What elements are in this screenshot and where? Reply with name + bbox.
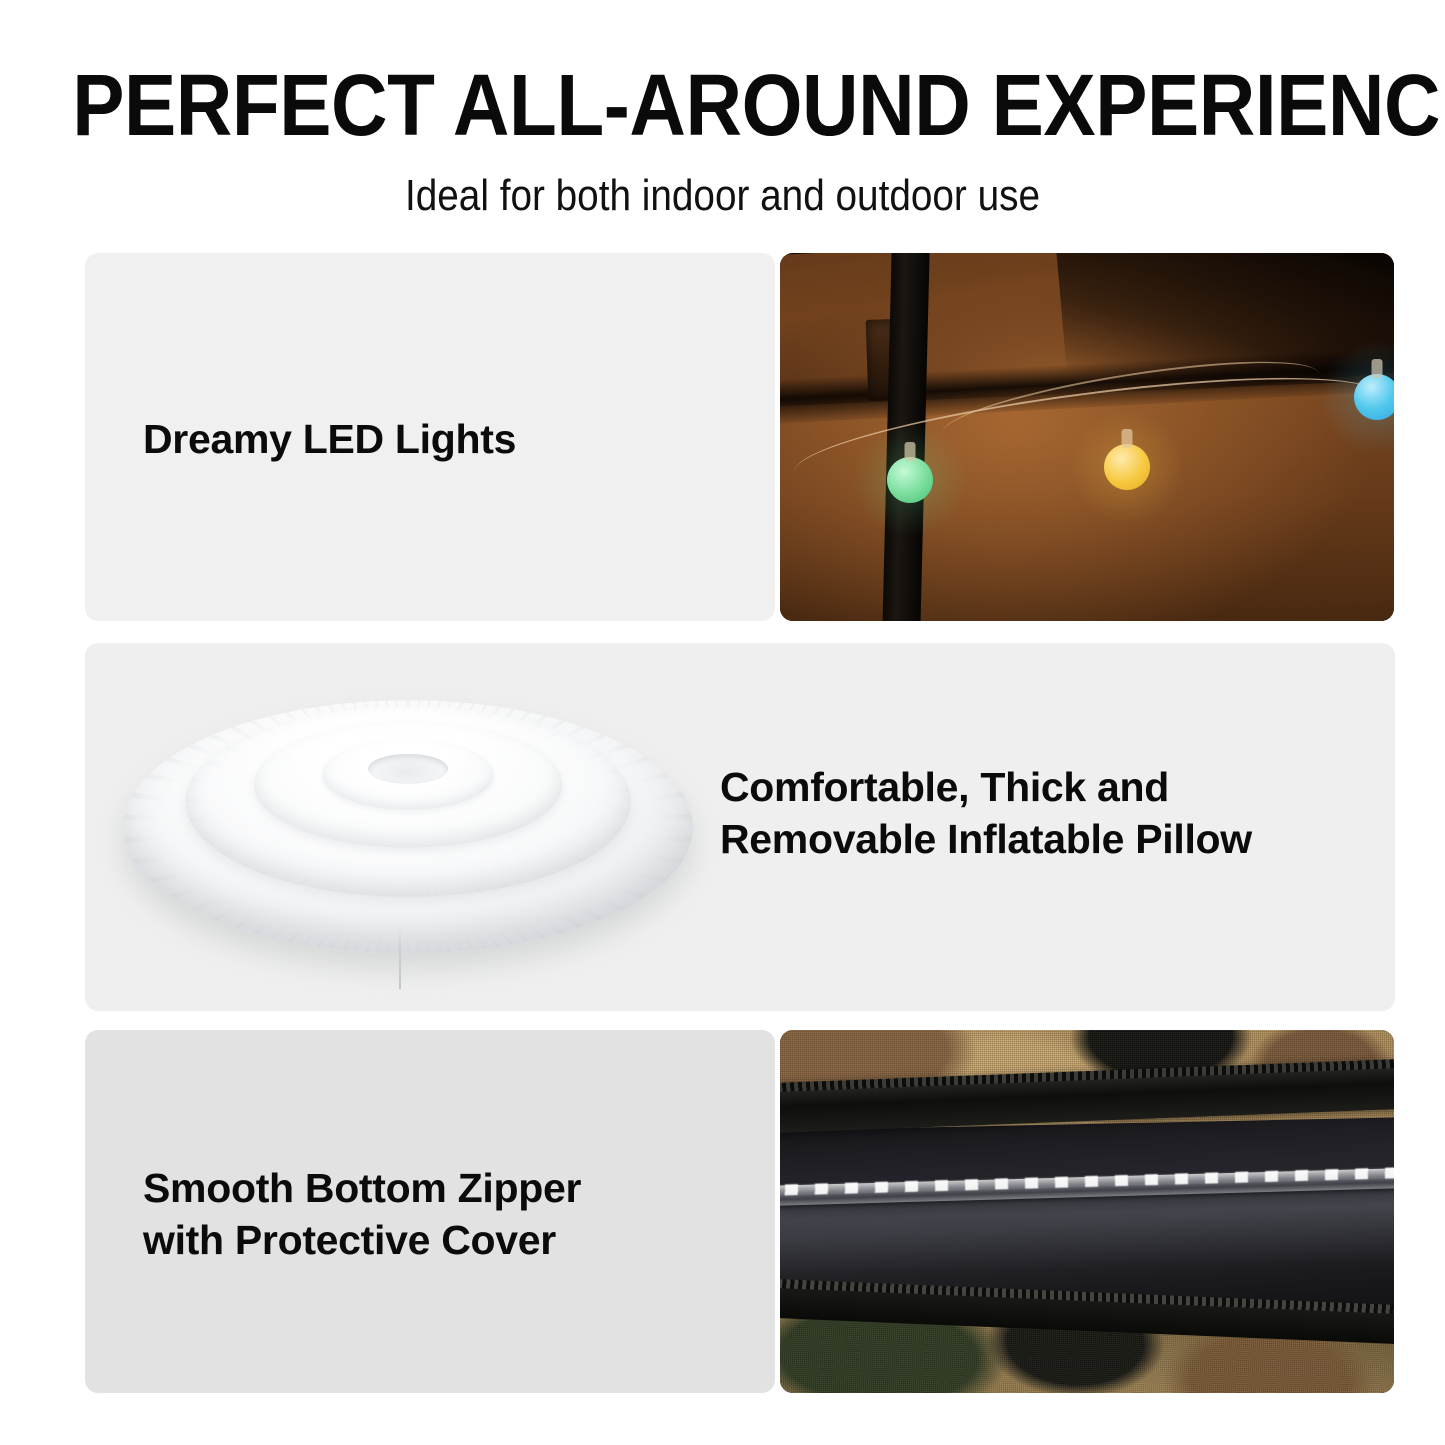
zipper-photo-scene — [780, 1030, 1394, 1393]
feature-row-bottom-zipper: Smooth Bottom Zipper with Protective Cov… — [0, 0, 1445, 1445]
bottom-zipper-photo — [780, 1030, 1394, 1393]
infographic-page: PERFECT ALL-AROUND EXPERIENCE Ideal for … — [0, 0, 1445, 1445]
feature-label-bottom-zipper: Smooth Bottom Zipper with Protective Cov… — [143, 1162, 743, 1266]
feature-panel-bottom-zipper: Smooth Bottom Zipper with Protective Cov… — [85, 1030, 775, 1393]
